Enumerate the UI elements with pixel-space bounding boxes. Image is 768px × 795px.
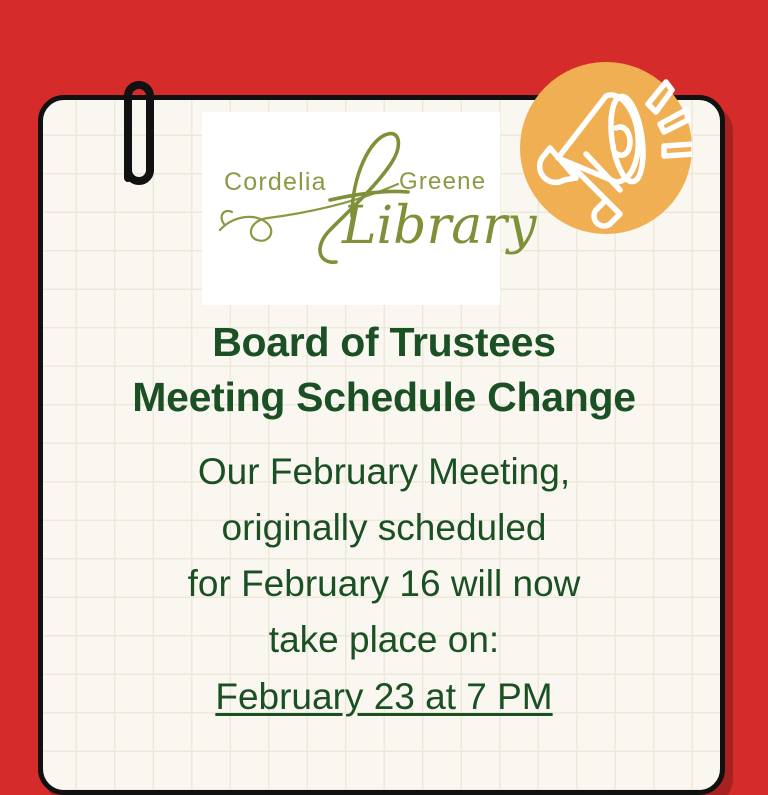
page-title: Board of Trustees Meeting Schedule Chang… — [18, 315, 750, 426]
megaphone-badge — [520, 62, 692, 234]
logo-word-greene: Greene — [399, 170, 486, 194]
logo-word-library: Library — [342, 200, 537, 252]
meeting-date-line: February 23 at 7 PM — [18, 669, 750, 725]
meeting-date-value: February 23 at 7 PM — [215, 669, 552, 725]
library-logo: Cordelia Greene Library — [202, 112, 500, 305]
headline-line-2: Meeting Schedule Change — [18, 370, 750, 425]
paperclip-icon — [112, 70, 166, 190]
megaphone-icon — [520, 62, 692, 234]
announcement-body: Our February Meeting, originally schedul… — [18, 444, 750, 725]
body-line-2: originally scheduled — [18, 500, 750, 556]
headline-line-1: Board of Trustees — [18, 315, 750, 370]
body-line-1: Our February Meeting, — [18, 444, 750, 500]
body-line-3: for February 16 will now — [18, 556, 750, 612]
announcement-content: Board of Trustees Meeting Schedule Chang… — [0, 315, 768, 725]
body-line-4: take place on: — [18, 612, 750, 668]
announcement-poster: Cordelia Greene Library — [0, 0, 768, 768]
logo-word-cordelia: Cordelia — [224, 170, 327, 195]
